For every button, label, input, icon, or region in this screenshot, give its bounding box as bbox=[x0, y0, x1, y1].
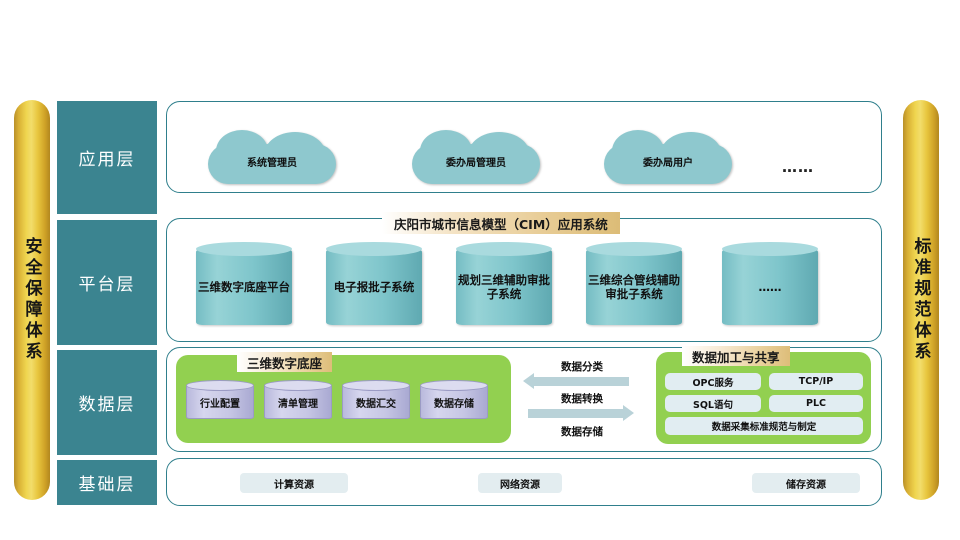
user-cloud-bureau-user-label: 委办局用户 bbox=[643, 158, 693, 170]
flow-label-conversion: 数据转换 bbox=[527, 391, 637, 406]
share-item-opc: OPC服务 bbox=[665, 373, 761, 390]
user-cloud-system-admin-label: 系统管理员 bbox=[247, 158, 297, 170]
platform-system-4: 三维综合管线辅助审批子系统 bbox=[586, 249, 682, 325]
share-item-collection-standard: 数据采集标准规范与制定 bbox=[665, 417, 863, 435]
base-module-4: 数据存储 bbox=[420, 385, 488, 419]
security-assurance-pillar: 安全保障体系 bbox=[14, 100, 50, 500]
security-assurance-label: 安全保障体系 bbox=[20, 237, 45, 363]
share-item-sql: SQL语句 bbox=[665, 395, 761, 412]
platform-system-2: 电子报批子系统 bbox=[326, 249, 422, 325]
platform-system-4-label: 三维综合管线辅助审批子系统 bbox=[586, 249, 682, 325]
platform-system-3-label: 规划三维辅助审批子系统 bbox=[456, 249, 552, 325]
platform-system-2-label: 电子报批子系统 bbox=[326, 249, 422, 325]
platform-title: 庆阳市城市信息模型（CIM）应用系统 bbox=[382, 212, 620, 234]
infra-resource-compute: 计算资源 bbox=[240, 473, 348, 493]
application-ellipsis: …… bbox=[782, 158, 814, 176]
base-module-3: 数据汇交 bbox=[342, 385, 410, 419]
layer-label-platform: 平台层 bbox=[57, 220, 157, 345]
layer-label-application: 应用层 bbox=[57, 101, 157, 214]
base-module-2: 清单管理 bbox=[264, 385, 332, 419]
flow-label-storage: 数据存储 bbox=[527, 424, 637, 439]
share-item-tcpip: TCP/IP bbox=[769, 373, 863, 390]
flow-arrow-right-icon bbox=[528, 409, 624, 418]
share-item-plc: PLC bbox=[769, 395, 863, 412]
user-cloud-bureau-admin: 委办局管理员 bbox=[412, 144, 540, 184]
infra-resource-network: 网络资源 bbox=[478, 473, 562, 493]
standards-specification-pillar: 标准规范体系 bbox=[903, 100, 939, 500]
base-module-3-label: 数据汇交 bbox=[343, 386, 409, 418]
base-module-2-label: 清单管理 bbox=[265, 386, 331, 418]
layer-label-data: 数据层 bbox=[57, 350, 157, 455]
user-cloud-bureau-admin-label: 委办局管理员 bbox=[446, 158, 506, 170]
layer-label-infrastructure: 基础层 bbox=[57, 460, 157, 505]
platform-system-5: …… bbox=[722, 249, 818, 325]
platform-system-1-label: 三维数字底座平台 bbox=[196, 249, 292, 325]
platform-system-1: 三维数字底座平台 bbox=[196, 249, 292, 325]
base-module-4-label: 数据存储 bbox=[421, 386, 487, 418]
platform-system-3: 规划三维辅助审批子系统 bbox=[456, 249, 552, 325]
base-module-1: 行业配置 bbox=[186, 385, 254, 419]
user-cloud-system-admin: 系统管理员 bbox=[208, 144, 336, 184]
platform-system-5-label: …… bbox=[722, 249, 818, 325]
flow-arrow-left-icon bbox=[533, 377, 629, 386]
flow-label-classification: 数据分类 bbox=[527, 359, 637, 374]
digital-base-title: 三维数字底座 bbox=[237, 352, 332, 372]
base-module-1-label: 行业配置 bbox=[187, 386, 253, 418]
architecture-diagram: 安全保障体系 标准规范体系 应用层 平台层 数据层 基础层 系统管理员 委办局管… bbox=[0, 0, 960, 540]
standards-specification-label: 标准规范体系 bbox=[909, 237, 934, 363]
data-processing-title: 数据加工与共享 bbox=[682, 346, 790, 366]
user-cloud-bureau-user: 委办局用户 bbox=[604, 144, 732, 184]
infra-resource-storage: 储存资源 bbox=[752, 473, 860, 493]
